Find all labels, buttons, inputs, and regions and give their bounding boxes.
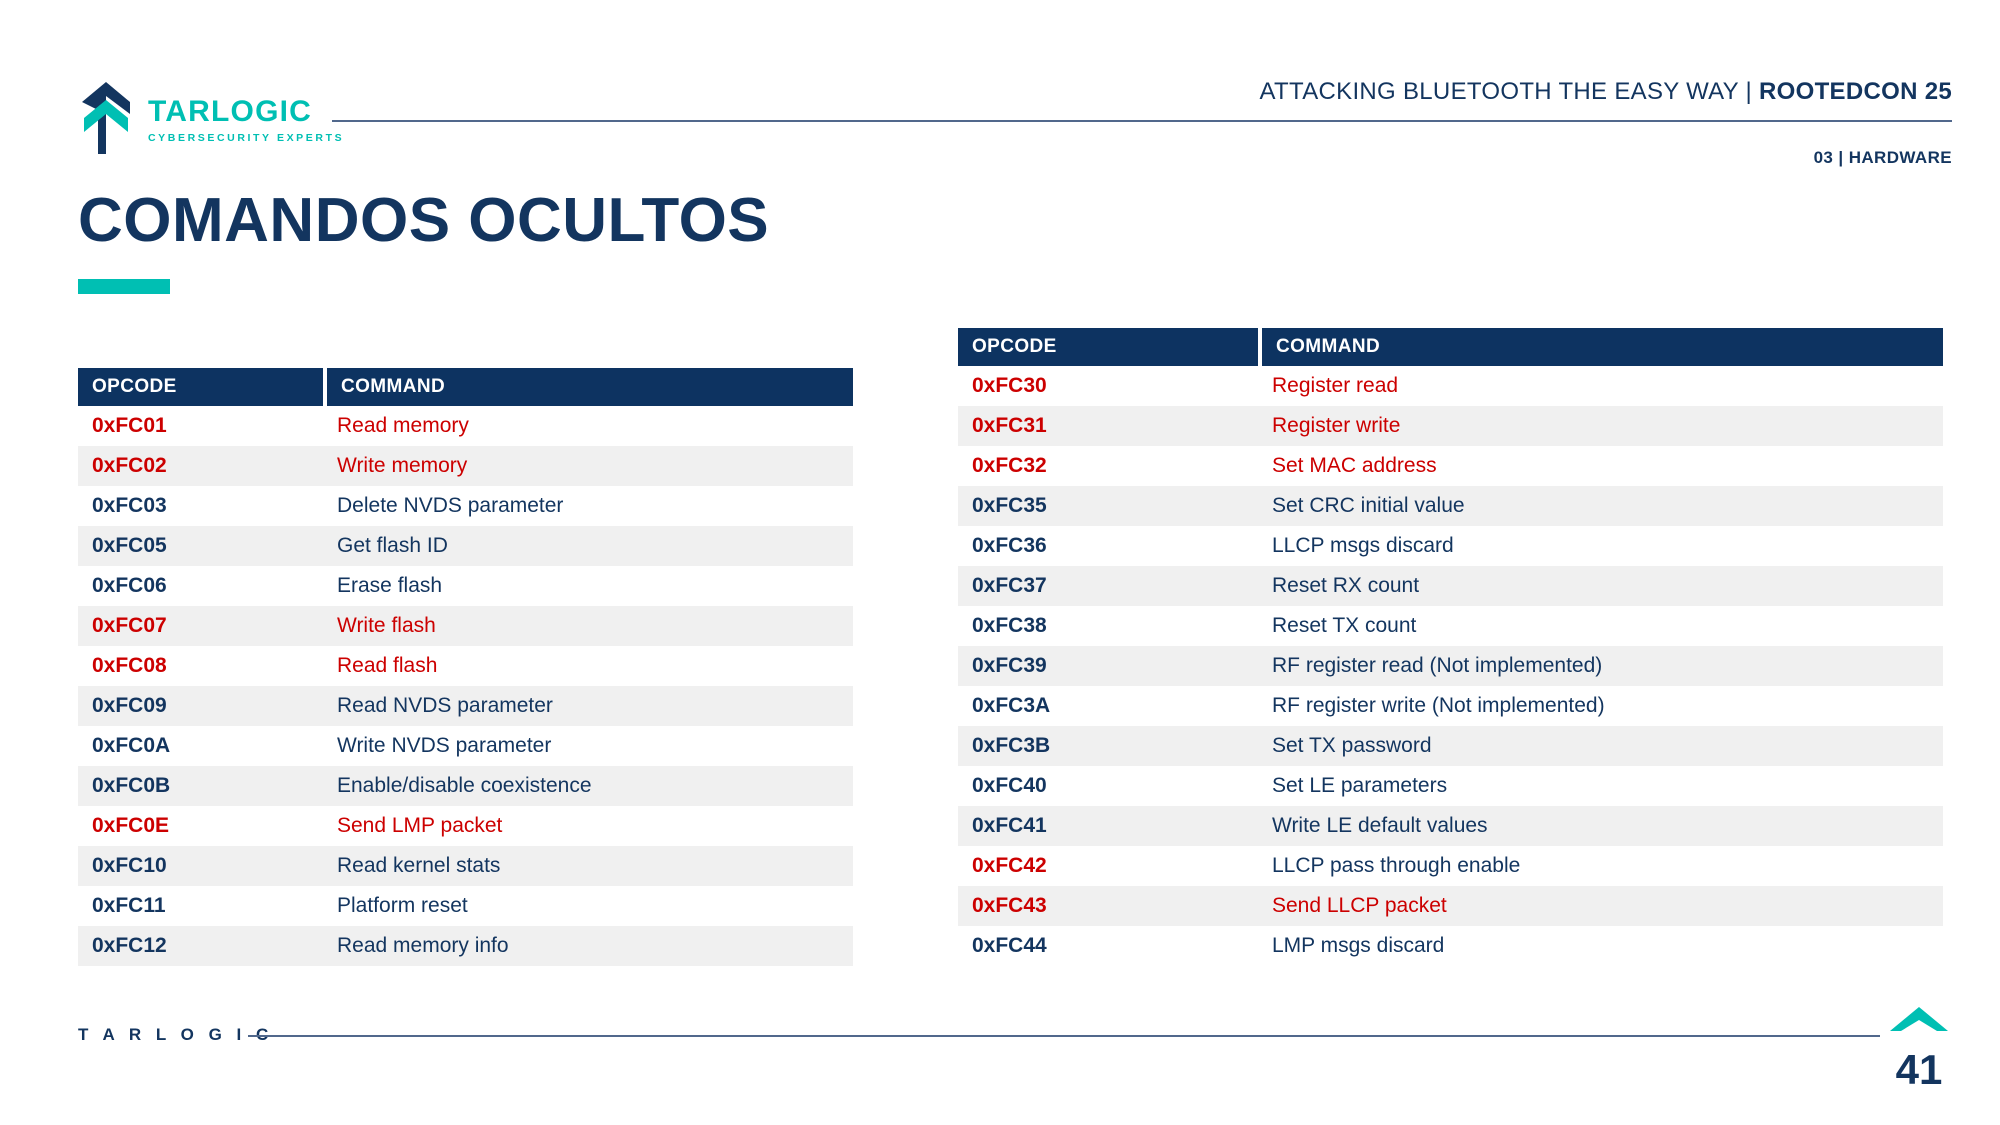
cell-command: Register write: [1258, 414, 1943, 438]
cell-opcode: 0xFC06: [78, 574, 323, 598]
table-row: 0xFC37Reset RX count: [958, 566, 1943, 606]
tarlogic-arrow-icon: [78, 80, 134, 156]
cell-opcode: 0xFC43: [958, 894, 1258, 918]
cell-opcode: 0xFC44: [958, 934, 1258, 958]
cell-opcode: 0xFC3A: [958, 694, 1258, 718]
cell-opcode: 0xFC36: [958, 534, 1258, 558]
table-row: 0xFC31Register write: [958, 406, 1943, 446]
table-header-row: OPCODE COMMAND: [958, 328, 1943, 366]
footer-divider: [248, 1035, 1880, 1037]
cell-command: Set CRC initial value: [1258, 494, 1943, 518]
table-row: 0xFC09Read NVDS parameter: [78, 686, 853, 726]
cell-opcode: 0xFC35: [958, 494, 1258, 518]
header-talk-title-text: ATTACKING BLUETOOTH THE EASY WAY |: [1260, 78, 1760, 105]
table-row: 0xFC35Set CRC initial value: [958, 486, 1943, 526]
page-title: COMANDOS OCULTOS: [78, 190, 769, 252]
cell-command: Get flash ID: [323, 534, 853, 558]
cell-command: Send LLCP packet: [1258, 894, 1943, 918]
table-row: 0xFC3ARF register write (Not implemented…: [958, 686, 1943, 726]
table-row: 0xFC42LLCP pass through enable: [958, 846, 1943, 886]
cell-command: Read memory info: [323, 934, 853, 958]
logo-wordmark: TARLOGIC: [148, 97, 344, 127]
table-row: 0xFC30Register read: [958, 366, 1943, 406]
logo-tagline: CYBERSECURITY EXPERTS: [148, 133, 344, 144]
cell-command: Set LE parameters: [1258, 774, 1943, 798]
table-body: 0xFC01Read memory0xFC02Write memory0xFC0…: [78, 406, 853, 966]
table-row: 0xFC03Delete NVDS parameter: [78, 486, 853, 526]
cell-opcode: 0xFC32: [958, 454, 1258, 478]
cell-opcode: 0xFC41: [958, 814, 1258, 838]
cell-opcode: 0xFC08: [78, 654, 323, 678]
table-row: 0xFC07Write flash: [78, 606, 853, 646]
cell-opcode: 0xFC11: [78, 894, 323, 918]
column-header-command: COMMAND: [1262, 328, 1943, 366]
table-row: 0xFC02Write memory: [78, 446, 853, 486]
column-header-opcode: OPCODE: [78, 368, 323, 406]
cell-opcode: 0xFC03: [78, 494, 323, 518]
cell-command: Read kernel stats: [323, 854, 853, 878]
column-header-opcode: OPCODE: [958, 328, 1258, 366]
table-row: 0xFC41Write LE default values: [958, 806, 1943, 846]
table-row: 0xFC0BEnable/disable coexistence: [78, 766, 853, 806]
header-section-label: 03 | HARDWARE: [1814, 148, 1952, 168]
cell-command: Enable/disable coexistence: [323, 774, 853, 798]
table-row: 0xFC05Get flash ID: [78, 526, 853, 566]
page-number: 41: [1886, 1049, 1952, 1091]
cell-command: Set TX password: [1258, 734, 1943, 758]
opcode-table-left: OPCODE COMMAND 0xFC01Read memory0xFC02Wr…: [78, 368, 853, 966]
cell-opcode: 0xFC38: [958, 614, 1258, 638]
cell-opcode: 0xFC3B: [958, 734, 1258, 758]
table-header-row: OPCODE COMMAND: [78, 368, 853, 406]
cell-opcode: 0xFC42: [958, 854, 1258, 878]
header-event-name: ROOTEDCON 25: [1759, 78, 1952, 105]
tarlogic-logo: TARLOGIC CYBERSECURITY EXPERTS: [78, 80, 344, 156]
cell-opcode: 0xFC39: [958, 654, 1258, 678]
cell-command: Read memory: [323, 414, 853, 438]
table-row: 0xFC39RF register read (Not implemented): [958, 646, 1943, 686]
slide: TARLOGIC CYBERSECURITY EXPERTS ATTACKING…: [0, 0, 2000, 1125]
header-divider: [332, 120, 1952, 122]
table-row: 0xFC3BSet TX password: [958, 726, 1943, 766]
cell-command: Register read: [1258, 374, 1943, 398]
cell-command: Read flash: [323, 654, 853, 678]
cell-opcode: 0xFC0B: [78, 774, 323, 798]
table-row: 0xFC08Read flash: [78, 646, 853, 686]
table-row: 0xFC10Read kernel stats: [78, 846, 853, 886]
cell-command: Write memory: [323, 454, 853, 478]
footer-brand: T A R L O G I C: [78, 1025, 273, 1045]
table-row: 0xFC36LLCP msgs discard: [958, 526, 1943, 566]
table-row: 0xFC38Reset TX count: [958, 606, 1943, 646]
cell-command: Read NVDS parameter: [323, 694, 853, 718]
cell-command: Erase flash: [323, 574, 853, 598]
cell-command: Platform reset: [323, 894, 853, 918]
table-row: 0xFC32Set MAC address: [958, 446, 1943, 486]
table-row: 0xFC06Erase flash: [78, 566, 853, 606]
cell-command: Send LMP packet: [323, 814, 853, 838]
cell-command: RF register write (Not implemented): [1258, 694, 1943, 718]
table-row: 0xFC0ESend LMP packet: [78, 806, 853, 846]
cell-opcode: 0xFC12: [78, 934, 323, 958]
table-row: 0xFC0AWrite NVDS parameter: [78, 726, 853, 766]
table-row: 0xFC40Set LE parameters: [958, 766, 1943, 806]
cell-opcode: 0xFC31: [958, 414, 1258, 438]
cell-opcode: 0xFC05: [78, 534, 323, 558]
chevron-up-icon: [1886, 1003, 1952, 1037]
cell-command: RF register read (Not implemented): [1258, 654, 1943, 678]
cell-command: LLCP pass through enable: [1258, 854, 1943, 878]
cell-opcode: 0xFC09: [78, 694, 323, 718]
cell-opcode: 0xFC0E: [78, 814, 323, 838]
cell-opcode: 0xFC37: [958, 574, 1258, 598]
cell-command: Write NVDS parameter: [323, 734, 853, 758]
cell-command: Reset RX count: [1258, 574, 1943, 598]
column-header-command: COMMAND: [327, 368, 853, 406]
table-row: 0xFC43Send LLCP packet: [958, 886, 1943, 926]
header-talk-title: ATTACKING BLUETOOTH THE EASY WAY | ROOTE…: [1260, 78, 1952, 106]
cell-command: Reset TX count: [1258, 614, 1943, 638]
table-row: 0xFC01Read memory: [78, 406, 853, 446]
cell-command: Write flash: [323, 614, 853, 638]
cell-command: Set MAC address: [1258, 454, 1943, 478]
table-row: 0xFC44LMP msgs discard: [958, 926, 1943, 966]
cell-opcode: 0xFC0A: [78, 734, 323, 758]
cell-opcode: 0xFC40: [958, 774, 1258, 798]
cell-opcode: 0xFC30: [958, 374, 1258, 398]
cell-command: Delete NVDS parameter: [323, 494, 853, 518]
cell-command: LMP msgs discard: [1258, 934, 1943, 958]
cell-opcode: 0xFC01: [78, 414, 323, 438]
cell-command: LLCP msgs discard: [1258, 534, 1943, 558]
cell-opcode: 0xFC10: [78, 854, 323, 878]
cell-opcode: 0xFC07: [78, 614, 323, 638]
title-accent-bar: [78, 279, 170, 294]
table-body: 0xFC30Register read0xFC31Register write0…: [958, 366, 1943, 966]
opcode-table-right: OPCODE COMMAND 0xFC30Register read0xFC31…: [958, 328, 1943, 966]
table-row: 0xFC12Read memory info: [78, 926, 853, 966]
cell-opcode: 0xFC02: [78, 454, 323, 478]
table-row: 0xFC11Platform reset: [78, 886, 853, 926]
cell-command: Write LE default values: [1258, 814, 1943, 838]
